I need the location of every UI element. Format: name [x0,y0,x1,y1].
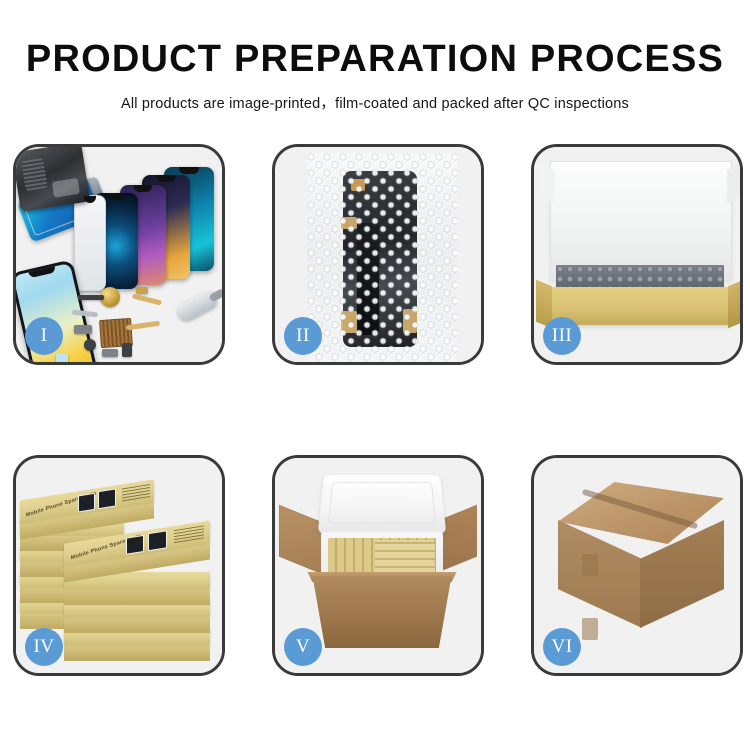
box-screen-graphic [98,488,116,509]
component-button-icon [84,339,96,351]
component-chip-icon [74,325,92,334]
box-lid-icon [550,161,732,281]
carton-tape-icon [582,554,598,576]
carton-body-icon [303,576,461,648]
box-screen-graphic [148,530,167,551]
product-preparation-infographic: PRODUCT PREPARATION PROCESS All products… [0,0,750,750]
process-step-1[interactable]: Mobile phone LCD screens, display assemb… [13,144,225,365]
component-chip-icon [78,295,104,300]
box-spec-text [174,525,204,544]
kraft-box-base-icon [548,287,732,325]
carton-tape-icon [582,618,598,640]
page-subtitle: All products are image-printed，film-coat… [0,78,750,113]
packed-boxes-icon [375,540,435,574]
tempered-glass-icon [74,195,106,291]
component-chip-icon [102,349,118,357]
process-step-2[interactable]: Single part wrapped in bubble wrap and s… [272,144,484,365]
process-step-5[interactable]: Boxes loaded into a foam-lined export ca… [272,455,484,676]
header: PRODUCT PREPARATION PROCESS All products… [0,40,750,113]
component-camera-icon [56,353,68,362]
process-step-grid: Mobile phone LCD screens, display assemb… [13,144,743,676]
step-badge-2: II [284,317,322,355]
step-badge-5: V [284,628,322,666]
page-title: PRODUCT PREPARATION PROCESS [0,40,750,78]
repair-tool-icon [174,288,220,324]
bubble-wrap-bag-icon [307,153,457,361]
flex-cable-icon [132,293,162,305]
process-step-6[interactable]: Sealed shipping carton ready for dispatc… [531,455,743,676]
step-badge-6: VI [543,628,581,666]
foam-lid-icon [318,475,447,534]
box-screen-graphic [126,535,144,555]
component-chip-icon [122,343,132,357]
phone-back-housing-icon [16,147,90,212]
step-badge-3: III [543,317,581,355]
bubble-texture [307,153,457,361]
component-contact-icon [136,287,148,294]
process-step-4[interactable]: Mobile Phone Spare Parts Mobile Phone Sp… [13,455,225,676]
step-badge-4: IV [25,628,63,666]
step-badge-1: I [25,317,63,355]
box-spec-text [122,484,150,502]
box-screen-graphic [78,493,95,513]
stacked-box-printed: Mobile Phone Spare Parts [20,479,154,524]
process-step-3[interactable]: Wrapped parts placed inside a kraft inne… [531,144,743,365]
